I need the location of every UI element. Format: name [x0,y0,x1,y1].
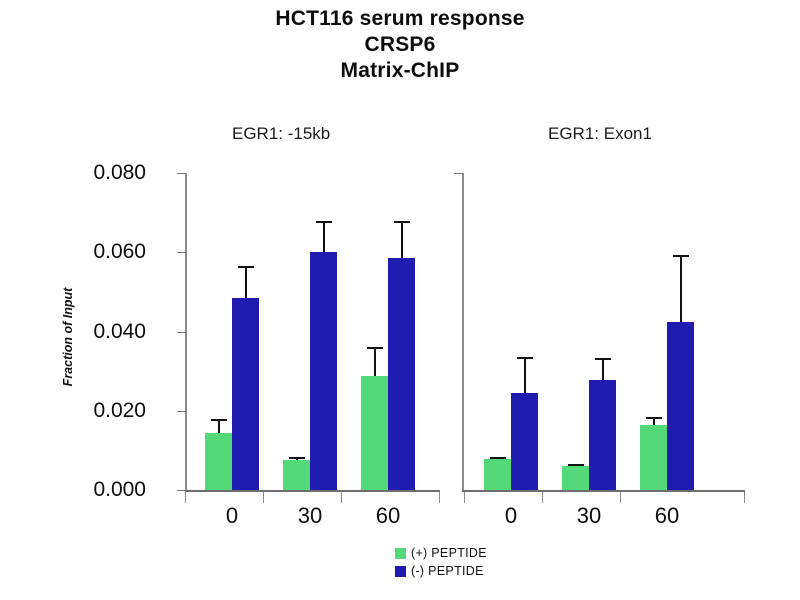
error-bar-stem [323,221,325,253]
y-tick-label: 0.080 [60,162,146,183]
panel-title-right: EGR1: Exon1 [548,124,652,144]
y-tick-label: 0.020 [60,400,146,421]
y-tick-label: 0.040 [60,321,146,342]
x-tick-mark [185,492,186,503]
bar-minus-peptide [232,298,259,490]
y-axis-top-cap [177,173,186,174]
error-bar-cap [394,221,410,223]
error-bar-cap [238,266,254,268]
error-bar-cap [211,419,227,421]
bar-minus-peptide [589,380,616,490]
bar-minus-peptide [388,258,415,490]
error-bar-stem [401,221,403,259]
error-bar-cap [673,255,689,257]
legend-label-plus-peptide: (+) PEPTIDE [411,547,487,560]
legend-swatch-blue-icon [395,566,406,577]
chart-legend: (+) PEPTIDE (-) PEPTIDE [395,545,487,581]
error-bar-cap [568,464,584,466]
error-bar-stem [374,347,376,377]
legend-swatch-green-icon [395,548,406,559]
x-axis-line-right [462,490,745,492]
error-bar-stem [602,358,604,380]
y-axis-top-cap [454,173,463,174]
panel-title-left: EGR1: -15kb [232,124,330,144]
y-axis-line-right [462,173,464,492]
x-tick-mark [464,492,465,503]
error-bar-stem [524,357,526,393]
bar-plus-peptide [640,425,667,490]
y-tick-label: 0.000 [60,479,146,500]
bar-plus-peptide [283,460,310,490]
bar-minus-peptide [511,393,538,490]
legend-item-plus-peptide: (+) PEPTIDE [395,545,487,562]
x-tick-mark [263,492,264,503]
x-tick-mark [620,492,621,503]
x-tick-mark [542,492,543,503]
y-tick-label: 0.060 [60,241,146,262]
x-tick-label: 30 [280,505,340,527]
bar-plus-peptide [205,433,232,490]
bar-plus-peptide [484,459,511,490]
legend-item-minus-peptide: (-) PEPTIDE [395,563,487,580]
bar-plus-peptide [562,466,589,490]
error-bar-cap [490,457,506,459]
error-bar-cap [316,221,332,223]
y-axis-line-left [185,173,187,492]
x-axis-end-tick [439,492,440,503]
x-axis-end-tick [744,492,745,503]
error-bar-cap [595,358,611,360]
bar-minus-peptide [310,252,337,490]
chart-title-line-3: Matrix-ChIP [0,58,800,84]
x-tick-label: 60 [637,505,697,527]
chart-title: HCT116 serum response CRSP6 Matrix-ChIP [0,6,800,84]
error-bar-stem [245,266,247,298]
x-tick-mark [341,492,342,503]
legend-label-minus-peptide: (-) PEPTIDE [411,565,484,578]
bar-plus-peptide [361,376,388,490]
error-bar-stem [680,255,682,322]
x-axis-line-left [185,490,440,492]
x-tick-label: 30 [559,505,619,527]
x-tick-label: 0 [202,505,262,527]
error-bar-cap [367,347,383,349]
x-tick-label: 0 [481,505,541,527]
error-bar-cap [517,357,533,359]
chart-title-line-1: HCT116 serum response [0,6,800,32]
x-tick-label: 60 [358,505,418,527]
bar-minus-peptide [667,322,694,490]
chart-figure: HCT116 serum response CRSP6 Matrix-ChIP … [0,0,800,600]
error-bar-cap [289,457,305,459]
error-bar-cap [646,417,662,419]
chart-title-line-2: CRSP6 [0,32,800,58]
